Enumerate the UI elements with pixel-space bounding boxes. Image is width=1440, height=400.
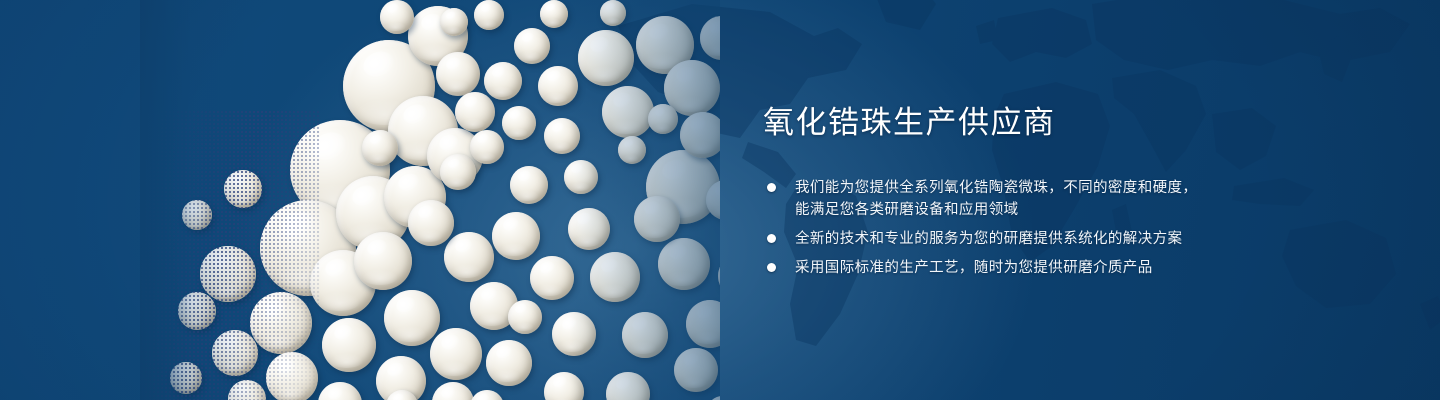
hero-banner: 氧化锆珠生产供应商 我们能为您提供全系列氧化锆陶瓷微珠，不同的密度和硬度， 能满… [0,0,1440,400]
bullet-text-line-2: 能满足您各类研磨设备和应用领域 [795,199,1233,221]
feature-bullet-item: 我们能为您提供全系列氧化锆陶瓷微珠，不同的密度和硬度， 能满足您各类研磨设备和应… [763,177,1233,221]
bullet-text-line-1: 全新的技术和专业的服务为您的研磨提供系统化的解决方案 [795,231,1182,247]
bullet-text-line-1: 采用国际标准的生产工艺，随时为您提供研磨介质产品 [795,260,1153,276]
bullet-dot-icon [767,234,776,243]
banner-content: 氧化锆珠生产供应商 我们能为您提供全系列氧化锆陶瓷微珠，不同的密度和硬度， 能满… [763,104,1233,286]
bullet-dot-icon [767,263,776,272]
feature-bullet-item: 全新的技术和专业的服务为您的研磨提供系统化的解决方案 [763,228,1233,250]
bullet-dot-icon [767,183,776,192]
bullet-text-line-1: 我们能为您提供全系列氧化锆陶瓷微珠，不同的密度和硬度， [795,180,1197,196]
feature-bullet-item: 采用国际标准的生产工艺，随时为您提供研磨介质产品 [763,257,1233,279]
banner-headline: 氧化锆珠生产供应商 [763,104,1233,141]
feature-bullet-list: 我们能为您提供全系列氧化锆陶瓷微珠，不同的密度和硬度， 能满足您各类研磨设备和应… [763,177,1233,279]
